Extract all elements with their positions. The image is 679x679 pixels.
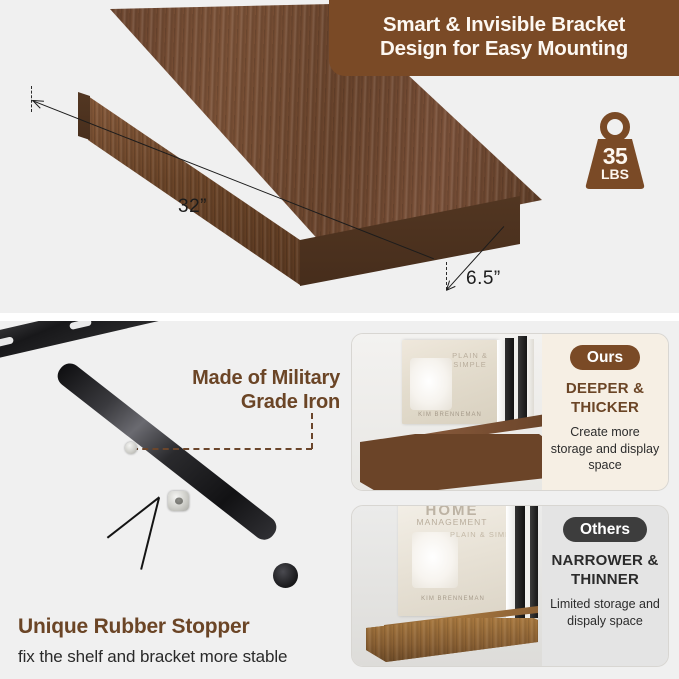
ours-photo: PLAIN & SIMPLE KIM BRENNEMAN	[352, 334, 542, 490]
others-book-thin-4	[530, 506, 538, 618]
others-book-title-line2: PLAIN & SIMPLE	[450, 530, 506, 539]
title-line-1: Smart & Invisible Bracket	[383, 13, 625, 37]
weight-badge: 35 LBS	[578, 112, 652, 190]
rubber-stopper	[168, 491, 189, 511]
bracket-mounting-plate	[0, 321, 182, 367]
product-infographic: 32” 6.5” 35 LBS Smart & Invisible Bracke…	[0, 0, 679, 679]
ours-book-thin-1	[497, 340, 505, 424]
top-panel: 32” 6.5” 35 LBS Smart & Invisible Bracke…	[0, 0, 679, 313]
ours-title-line1: DEEPER &	[566, 380, 644, 397]
ours-book-cover: PLAIN & SIMPLE KIM BRENNEMAN	[402, 340, 497, 424]
military-iron-heading: Made of Military Grade Iron	[160, 367, 340, 414]
bottom-panel: Made of Military Grade Iron Unique Rubbe…	[0, 321, 679, 679]
others-book-thin-2	[515, 506, 525, 618]
ours-book-thin-4	[518, 336, 527, 424]
military-iron-heading-line1: Made of Military	[192, 367, 340, 389]
military-iron-heading-line2: Grade Iron	[241, 391, 340, 413]
ours-title-line2: THICKER	[571, 399, 639, 416]
others-title-line1: NARROWER &	[552, 552, 659, 569]
others-book-author: KIM BRENNEMAN	[408, 596, 498, 602]
others-book-title-line1: MANAGEMENT	[398, 517, 506, 527]
ours-desc: Create more storage and display space	[548, 424, 662, 473]
weight-icon	[578, 112, 652, 190]
ours-book-thin-5	[527, 339, 534, 424]
rubber-stopper-subtext: fix the shelf and bracket more stable	[18, 647, 287, 667]
dimension-length-label: 32”	[178, 196, 207, 218]
dimension-depth-label: 6.5”	[466, 268, 501, 290]
ours-book-title-line2: SIMPLE	[446, 360, 494, 369]
comparison-card-ours: PLAIN & SIMPLE KIM BRENNEMAN Ours DEEPER…	[351, 333, 669, 491]
magnifier-leader-upper	[107, 497, 160, 539]
others-book-chair-illustration	[412, 532, 458, 588]
others-book-thin-1	[506, 506, 515, 618]
title-line-2: Design for Easy Mounting	[380, 37, 628, 61]
comparison-card-others: HOME MANAGEMENT PLAIN & SIMPLE KIM BRENN…	[351, 505, 669, 667]
title-banner: Smart & Invisible Bracket Design for Eas…	[329, 0, 679, 76]
others-photo: HOME MANAGEMENT PLAIN & SIMPLE KIM BRENN…	[352, 506, 542, 666]
iron-callout-dot	[125, 442, 137, 454]
ours-badge: Ours	[570, 345, 640, 370]
stopper-hole	[175, 498, 183, 505]
rubber-stopper-heading: Unique Rubber Stopper	[18, 615, 249, 640]
ours-book-author: KIM BRENNEMAN	[408, 412, 492, 418]
iron-callout-dash-h	[132, 448, 312, 450]
others-title: NARROWER & THINNER	[552, 551, 659, 589]
others-desc: Limited storage and dispaly space	[548, 596, 662, 629]
plate-slot-1	[0, 336, 14, 348]
ours-book-title-line1: PLAIN &	[446, 351, 494, 360]
others-book-cover: HOME MANAGEMENT PLAIN & SIMPLE KIM BRENN…	[398, 506, 506, 616]
ours-book-thin-2	[505, 338, 514, 424]
others-info: Others NARROWER & THINNER Limited storag…	[542, 506, 668, 666]
plate-slot-2	[69, 321, 92, 330]
others-badge: Others	[563, 517, 647, 542]
ours-title: DEEPER & THICKER	[566, 379, 644, 417]
iron-callout-dash-v	[311, 413, 313, 449]
bracket-rod-end-cap	[273, 563, 298, 588]
ours-info: Ours DEEPER & THICKER Create more storag…	[542, 334, 668, 490]
others-title-line2: THINNER	[571, 571, 639, 588]
